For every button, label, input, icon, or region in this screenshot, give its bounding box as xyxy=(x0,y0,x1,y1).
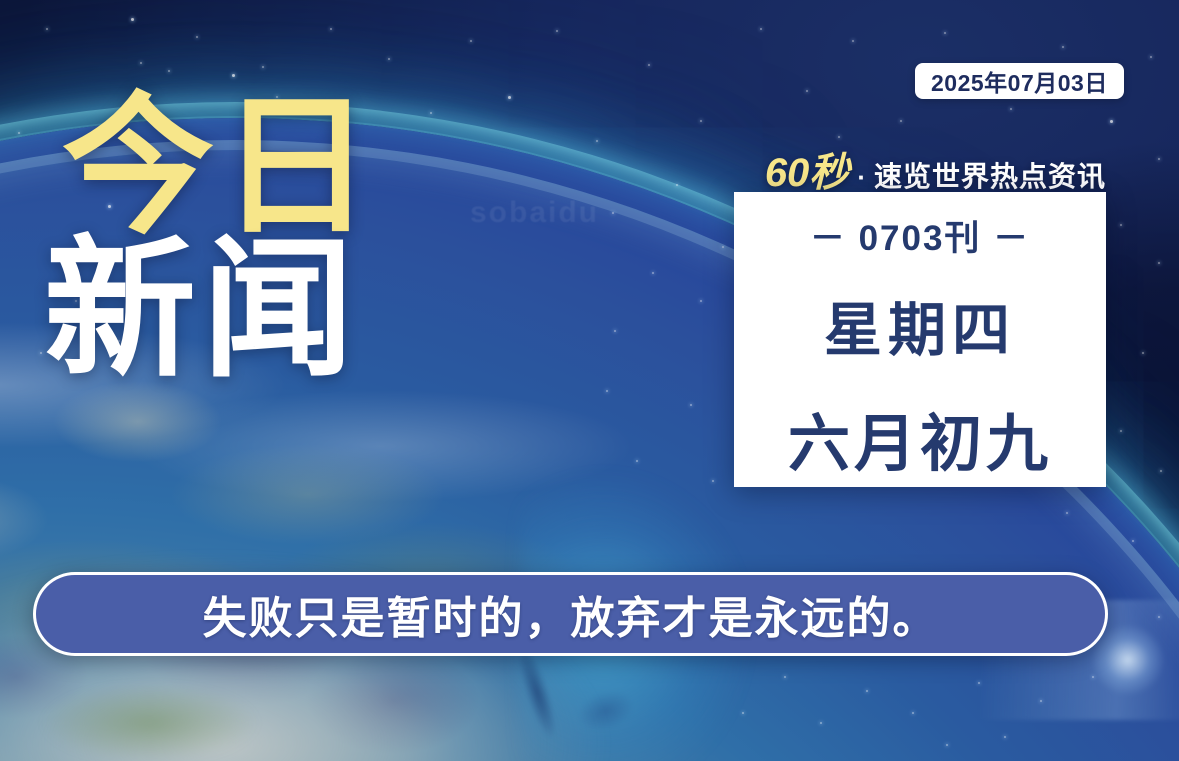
star-icon xyxy=(1110,120,1113,123)
star-icon xyxy=(606,390,608,392)
quote-text: 失败只是暂时的，放弃才是永远的。 xyxy=(203,582,939,646)
lunar-date-label: 六月初九 xyxy=(788,393,1052,483)
star-icon xyxy=(1062,46,1064,48)
tagline: 60秒 · 速览世界热点资讯 xyxy=(734,140,1106,198)
tagline-separator: · xyxy=(855,162,868,193)
issue-number: － 0703刊 － xyxy=(810,210,1030,261)
quote-banner: 失败只是暂时的，放弃才是永远的。 xyxy=(33,572,1108,656)
star-icon xyxy=(330,28,332,30)
star-icon xyxy=(1150,56,1152,58)
star-icon xyxy=(1142,352,1144,354)
news-poster: sobaidu 今日 新闻 2025年07月03日 60秒 · 速览世界热点资讯… xyxy=(0,0,1179,761)
star-icon xyxy=(1120,224,1122,226)
brand-title-line-2: 新闻 xyxy=(44,239,378,382)
star-icon xyxy=(912,712,914,714)
star-icon xyxy=(1010,108,1012,110)
star-icon xyxy=(196,36,198,38)
watermark-text: sobaidu xyxy=(470,196,599,230)
star-icon xyxy=(508,96,511,99)
tagline-highlight: 60秒 xyxy=(765,140,850,198)
star-icon xyxy=(712,480,714,482)
weekday-label: 星期四 xyxy=(824,283,1016,367)
star-icon xyxy=(946,744,948,746)
star-icon xyxy=(556,30,558,32)
star-icon xyxy=(944,32,946,34)
star-icon xyxy=(430,112,432,114)
star-icon xyxy=(852,40,854,42)
star-icon xyxy=(1066,512,1068,514)
star-icon xyxy=(18,132,20,134)
star-icon xyxy=(388,58,390,60)
brand-title-line-1: 今日 xyxy=(62,96,378,239)
star-icon xyxy=(784,676,786,678)
star-icon xyxy=(1160,470,1162,472)
star-icon xyxy=(614,330,616,332)
star-icon xyxy=(866,690,868,692)
star-icon xyxy=(596,140,598,142)
star-icon xyxy=(742,712,744,714)
star-icon xyxy=(262,66,264,68)
star-icon xyxy=(636,460,638,462)
star-icon xyxy=(1132,540,1134,542)
page-title: 今日 新闻 xyxy=(62,96,378,382)
star-icon xyxy=(168,70,170,72)
star-icon xyxy=(700,300,702,302)
star-icon xyxy=(760,28,762,30)
star-icon xyxy=(232,74,235,77)
date-badge: 2025年07月03日 xyxy=(915,63,1124,99)
star-icon xyxy=(700,120,702,122)
star-icon xyxy=(820,722,822,724)
info-card: － 0703刊 － 星期四 六月初九 xyxy=(734,192,1106,487)
star-icon xyxy=(1158,262,1160,264)
star-icon xyxy=(1004,736,1006,738)
star-icon xyxy=(46,28,48,30)
star-icon xyxy=(40,352,42,354)
star-icon xyxy=(652,272,654,274)
tagline-text: 速览世界热点资讯 xyxy=(874,155,1106,195)
star-icon xyxy=(838,136,840,138)
star-icon xyxy=(648,64,650,66)
star-icon xyxy=(140,62,142,64)
star-icon xyxy=(722,246,724,248)
star-icon xyxy=(806,90,808,92)
star-icon xyxy=(1158,158,1160,160)
star-icon xyxy=(131,18,134,21)
star-icon xyxy=(612,212,614,214)
star-icon xyxy=(470,40,472,42)
star-icon xyxy=(900,120,902,122)
star-icon xyxy=(1120,430,1122,432)
star-icon xyxy=(676,184,678,186)
star-icon xyxy=(690,404,692,406)
